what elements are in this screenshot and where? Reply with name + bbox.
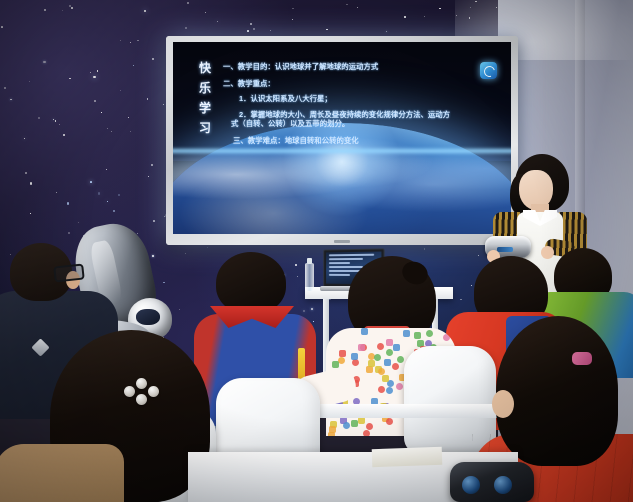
vertical-char-3: 学 — [199, 100, 219, 117]
vr-lens-left — [462, 476, 480, 494]
vr-headset[interactable] — [450, 462, 534, 502]
astronaut-visor — [136, 309, 160, 325]
slide-vertical-title: 快 乐 学 习 — [199, 60, 219, 140]
eyeglasses-icon — [53, 263, 85, 282]
lesson-slide: 快 乐 学 习 一、教学目的：认识地球并了解地球的运动方式 二、教学重点： 1．… — [173, 42, 511, 234]
pearl-hair-clip — [124, 386, 135, 397]
vertical-char-1: 快 — [199, 60, 219, 77]
slide-line-purpose: 一、教学目的：认识地球并了解地球的运动方式 — [223, 63, 499, 71]
hair-tie — [572, 352, 592, 365]
wall-display[interactable]: 快 乐 学 习 一、教学目的：认识地球并了解地球的运动方式 二、教学重点： 1．… — [166, 36, 518, 245]
slide-subline-rotation: 式（自转、公转）以及五带的划分。 — [231, 120, 499, 128]
pearl-hair-clip — [148, 386, 159, 397]
child-hair — [496, 316, 618, 466]
slide-line-difficulty: 三、教学难点：地球自转和公转的变化 — [233, 137, 499, 145]
middle-table — [300, 404, 500, 418]
classroom-scene: 快 乐 学 习 一、教学目的：认识地球并了解地球的运动方式 二、教学重点： 1．… — [0, 0, 633, 502]
slide-body-text: 一、教学目的：认识地球并了解地球的运动方式 二、教学重点： 1．认识太阳系及八大… — [223, 63, 499, 153]
slide-line-key-points: 二、教学重点： — [223, 80, 499, 88]
display-screen[interactable]: 快 乐 学 习 一、教学目的：认识地球并了解地球的运动方式 二、教学重点： 1．… — [173, 42, 511, 234]
paper-sheet[interactable] — [372, 447, 443, 467]
child-shoulder — [0, 444, 124, 502]
display-sensor — [334, 240, 350, 243]
child-hair — [216, 252, 286, 314]
audience-child-bottom-left — [0, 430, 114, 502]
vr-lens-right — [494, 476, 512, 494]
vertical-char-4: 习 — [199, 120, 219, 137]
slide-subline-earth-size: 2．掌握地球的大小、周长及昼夜持续的变化规律分方法、运动方 — [239, 111, 499, 119]
pearl-hair-clip — [136, 394, 147, 405]
slide-subline-solar-system: 1．认识太阳系及八大行星； — [239, 95, 499, 103]
child-ear — [492, 390, 514, 418]
pearl-hair-clip — [136, 378, 147, 389]
spiral-brand-logo-icon — [480, 62, 497, 79]
vertical-char-2: 乐 — [199, 80, 219, 97]
